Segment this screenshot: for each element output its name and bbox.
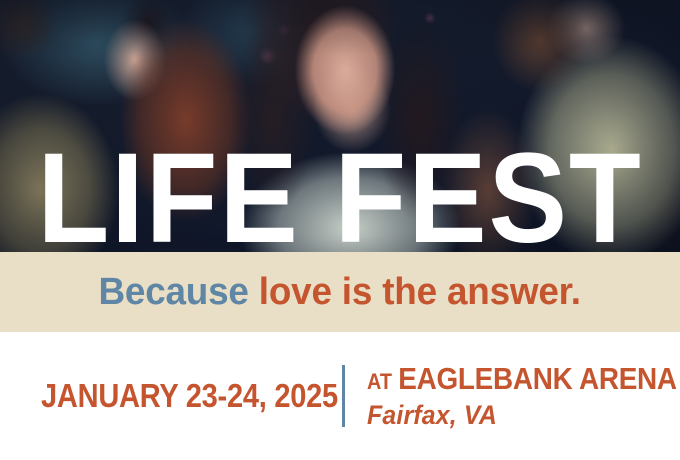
event-info-bar: JANUARY 23-24, 2025 AT EAGLEBANK ARENA F…: [0, 332, 680, 460]
event-date: JANUARY 23-24, 2025: [41, 377, 342, 415]
venue-name: EAGLEBANK ARENA: [398, 361, 677, 397]
event-title-container: LIFE FEST: [0, 0, 680, 252]
venue-name-line: AT EAGLEBANK ARENA: [367, 361, 677, 397]
tagline-part-one: Because: [99, 271, 259, 313]
event-title: LIFE FEST: [37, 149, 642, 249]
event-venue: AT EAGLEBANK ARENA Fairfax, VA: [345, 361, 680, 431]
venue-city: Fairfax, VA: [367, 400, 680, 431]
event-poster: LIFE FEST Because love is the answer. JA…: [0, 0, 680, 460]
venue-prefix: AT: [367, 369, 392, 395]
tagline: Because love is the answer.: [99, 271, 581, 314]
tagline-part-two: love is the answer.: [259, 271, 581, 313]
tagline-band: Because love is the answer.: [0, 252, 680, 332]
